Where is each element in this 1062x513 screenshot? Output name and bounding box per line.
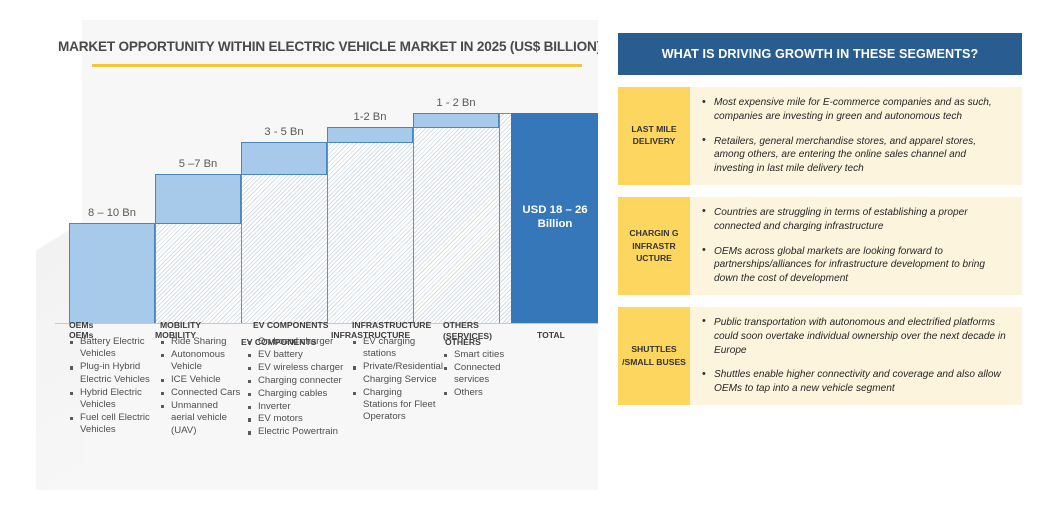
bar-label-mobility: 5 –7 Bn <box>155 158 241 170</box>
market-opportunity-panel: MARKET OPPORTUNITY WITHIN ELECTRIC VEHIC… <box>36 20 598 490</box>
list-item: Retailers, general merchandise stores, a… <box>700 135 1008 176</box>
segment-tag: LAST MILE DELIVERY <box>618 87 690 185</box>
segment-bullet-list: Public transportation with autonomous an… <box>700 316 1008 396</box>
waterfall-chart: USD 18 – 26 Billion 8 – 10 Bn 5 –7 Bn 3 … <box>55 90 598 324</box>
segment-tag: SHUTTLES /SMALL BUSES <box>618 307 690 405</box>
segment-bullet-list: Countries are struggling in terms of est… <box>700 206 1008 286</box>
segment-bullet-list: Most expensive mile for E-commerce compa… <box>700 96 1008 176</box>
bar-mobility <box>155 174 241 224</box>
list-item: On board charger <box>247 336 349 348</box>
list-item: Private/Residential Charging Service <box>352 361 437 386</box>
list-item: Shuttles enable higher connectivity and … <box>700 368 1008 396</box>
column-list: On board charger EV battery EV wireless … <box>247 336 349 439</box>
category-detail-columns: OEMs Battery Electric Vehicles Plug-in H… <box>55 320 598 480</box>
list-item: Connected Cars <box>160 387 242 399</box>
list-item: ICE Vehicle <box>160 374 242 386</box>
hatch-region-mobility <box>241 174 327 324</box>
list-item: Unmanned aerial vehicle (UAV) <box>160 400 242 437</box>
column-list: Smart cities Connected services Others <box>443 349 523 400</box>
list-item: Plug-in Hybrid Electric Vehicles <box>69 361 157 386</box>
bar-total-value-line1: USD 18 – 26 <box>511 203 598 217</box>
column-heading: EV COMPONENTS <box>253 320 349 331</box>
column-list: Battery Electric Vehicles Plug-in Hybrid… <box>69 336 157 437</box>
list-item: Electric Powertrain <box>247 426 349 438</box>
list-item: Smart cities <box>443 349 523 361</box>
growth-drivers-header: WHAT IS DRIVING GROWTH IN THESE SEGMENTS… <box>618 33 1022 75</box>
list-item: Autonomous Vehicle <box>160 349 242 374</box>
bar-label-infrastructure: 1-2 Bn <box>327 111 413 123</box>
column-oems: OEMs Battery Electric Vehicles Plug-in H… <box>69 320 157 437</box>
page-title: MARKET OPPORTUNITY WITHIN ELECTRIC VEHIC… <box>58 39 588 54</box>
column-list: EV charging stations Private/Residential… <box>352 336 437 424</box>
column-heading: OTHERS (SERVICES) <box>443 320 523 342</box>
segment-body: Most expensive mile for E-commerce compa… <box>690 87 1022 185</box>
bar-oems <box>69 223 155 324</box>
chart-plot-area: USD 18 – 26 Billion 8 – 10 Bn 5 –7 Bn 3 … <box>55 90 598 324</box>
list-item: OEMs across global markets are looking f… <box>700 245 1008 286</box>
hatch-region-oems <box>155 223 241 324</box>
bar-ev-components <box>241 142 327 175</box>
list-item: Hybrid Electric Vehicles <box>69 387 157 412</box>
segment-tag: CHARGIN G INFRASTR UCTURE <box>618 197 690 295</box>
list-item: Fuel cell Electric Vehicles <box>69 412 157 437</box>
bar-others <box>413 113 499 128</box>
segment-body: Countries are struggling in terms of est… <box>690 197 1022 295</box>
bar-total-value-line2: Billion <box>511 217 598 231</box>
segment-body: Public transportation with autonomous an… <box>690 307 1022 405</box>
list-item: Battery Electric Vehicles <box>69 336 157 361</box>
growth-drivers-panel: WHAT IS DRIVING GROWTH IN THESE SEGMENTS… <box>618 33 1022 483</box>
list-item: Most expensive mile for E-commerce compa… <box>700 96 1008 124</box>
segment-shuttles-small-buses: SHUTTLES /SMALL BUSES Public transportat… <box>618 307 1022 405</box>
column-ev-components: EV COMPONENTS On board charger EV batter… <box>247 320 349 439</box>
list-item: Ride Sharing <box>160 336 242 348</box>
column-others-services: OTHERS (SERVICES) Smart cities Connected… <box>443 320 523 400</box>
column-infrastructure: INFRASTRUCTURE EV charging stations Priv… <box>352 320 437 424</box>
list-item: EV charging stations <box>352 336 437 361</box>
hatch-region-ev-components <box>327 142 413 324</box>
bar-label-ev-components: 3 - 5 Bn <box>241 126 327 138</box>
column-heading: MOBILITY <box>160 320 242 331</box>
title-underline <box>92 64 582 67</box>
column-heading: INFRASTRUCTURE <box>352 320 437 331</box>
list-item: Others <box>443 387 523 399</box>
segment-last-mile-delivery: LAST MILE DELIVERY Most expensive mile f… <box>618 87 1022 185</box>
list-item: EV battery <box>247 349 349 361</box>
bar-label-oems: 8 – 10 Bn <box>69 207 155 219</box>
list-item: Charging Stations for Fleet Operators <box>352 387 437 424</box>
list-item: Countries are struggling in terms of est… <box>700 206 1008 234</box>
hatch-region-infrastructure <box>413 127 499 324</box>
segment-charging-infrastructure: CHARGIN G INFRASTR UCTURE Countries are … <box>618 197 1022 295</box>
hatch-region-others <box>499 113 511 324</box>
column-heading: OEMs <box>69 320 157 331</box>
list-item: EV wireless charger <box>247 362 349 374</box>
list-item: Charging cables <box>247 388 349 400</box>
bar-infrastructure <box>327 127 413 143</box>
list-item: Public transportation with autonomous an… <box>700 316 1008 357</box>
column-mobility: MOBILITY Ride Sharing Autonomous Vehicle… <box>160 320 242 438</box>
column-list: Ride Sharing Autonomous Vehicle ICE Vehi… <box>160 336 242 437</box>
bar-label-others: 1 - 2 Bn <box>413 97 499 109</box>
list-item: Inverter <box>247 401 349 413</box>
list-item: Charging connecter <box>247 375 349 387</box>
list-item: Connected services <box>443 362 523 387</box>
list-item: EV motors <box>247 413 349 425</box>
